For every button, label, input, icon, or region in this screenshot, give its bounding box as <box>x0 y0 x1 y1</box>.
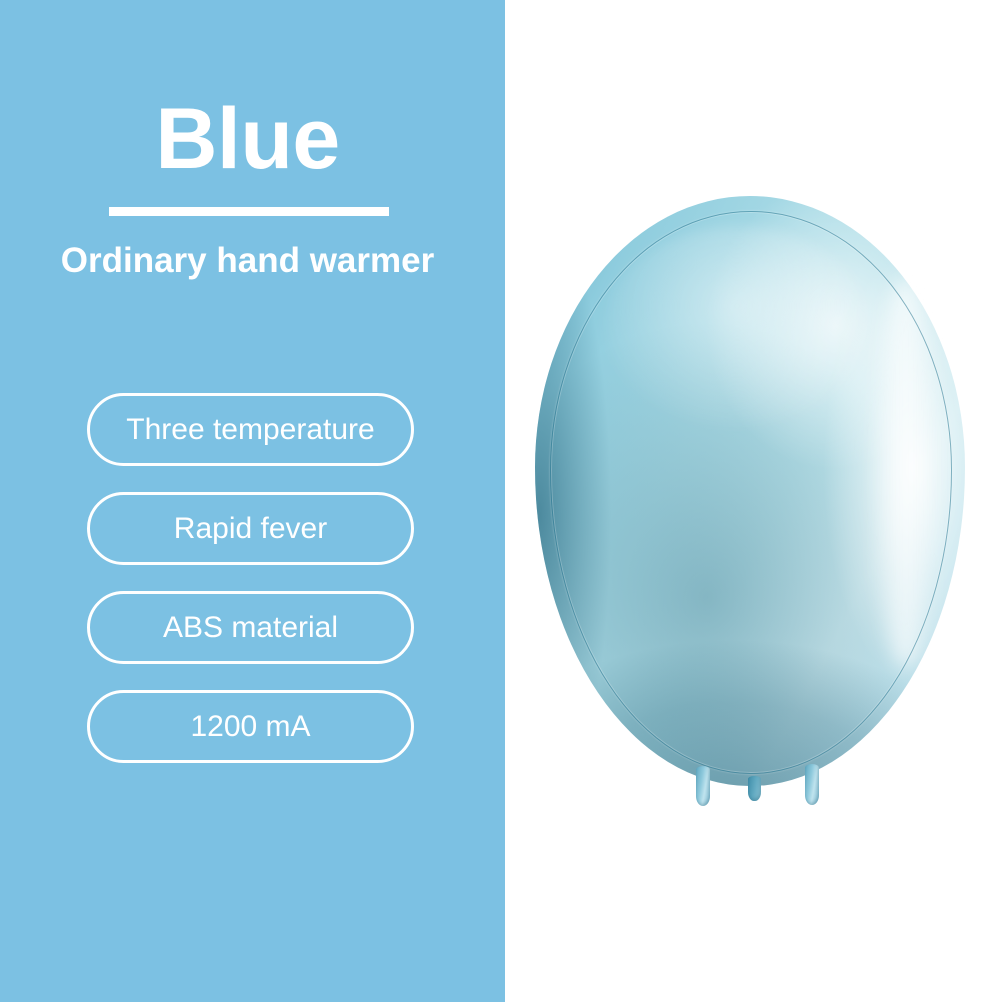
title-underline-divider <box>109 207 389 216</box>
product-banner: Blue Ordinary hand warmer Three temperat… <box>0 0 1002 1002</box>
product-subtitle: Ordinary hand warmer <box>0 240 505 282</box>
feature-pill-three-temperature: Three temperature <box>87 393 414 466</box>
feature-pill-1200-ma: 1200 mA <box>87 690 414 763</box>
feature-pill-abs-material: ABS material <box>87 591 414 664</box>
page-title: Blue <box>0 96 505 182</box>
feature-list: Three temperature Rapid fever ABS materi… <box>87 393 414 763</box>
product-foot-center <box>748 776 761 801</box>
feature-pill-rapid-fever: Rapid fever <box>87 492 414 565</box>
product-foot-right <box>805 764 819 805</box>
product-foot-left <box>696 766 710 806</box>
product-photo-area <box>505 0 1002 1002</box>
info-panel: Blue Ordinary hand warmer Three temperat… <box>0 0 505 1002</box>
hand-warmer-product-image <box>535 196 965 786</box>
